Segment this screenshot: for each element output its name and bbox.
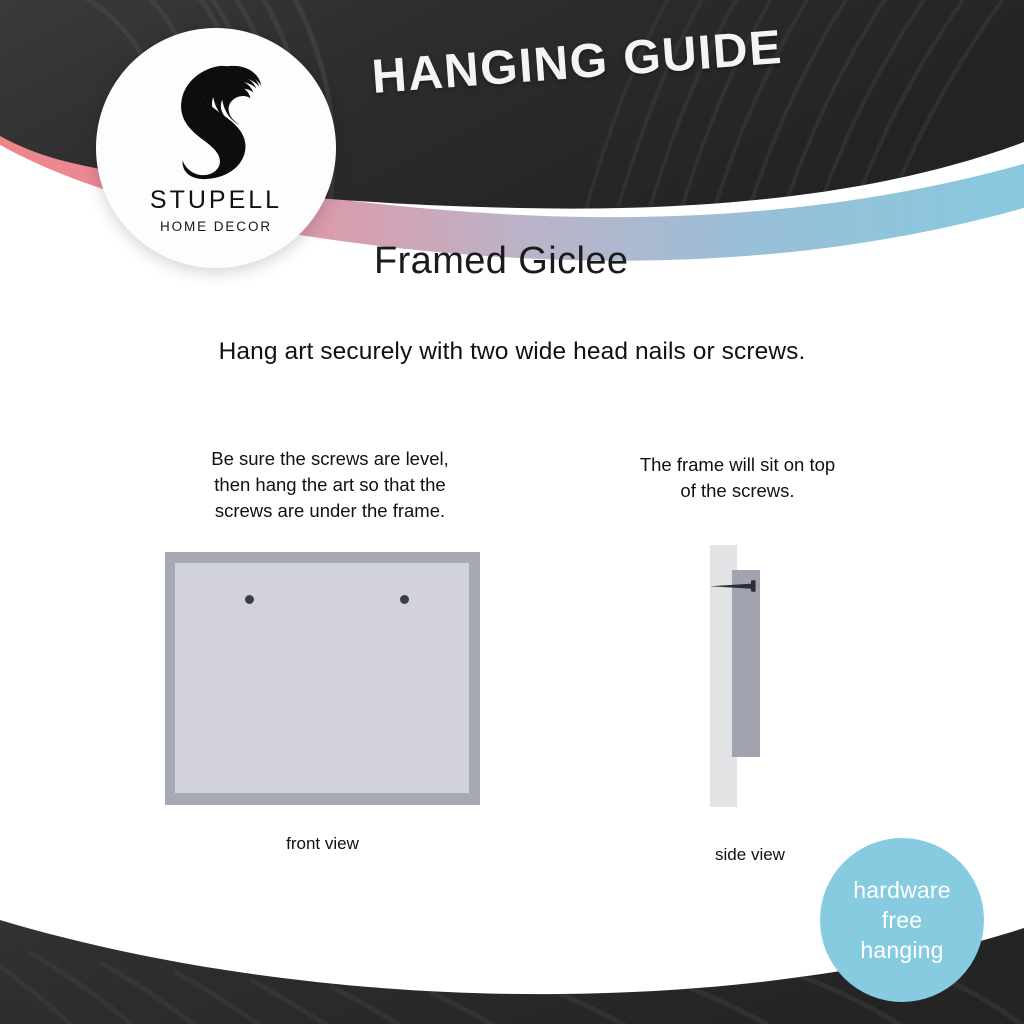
front-view-caption-line-1: Be sure the screws are level, [130, 446, 530, 472]
side-view-label: side view [650, 845, 850, 865]
brand-name: STUPELL [150, 186, 282, 215]
side-view-caption-line-1: The frame will sit on top [565, 452, 910, 478]
side-view-diagram [700, 545, 810, 807]
swan-swirl-icon [157, 60, 275, 180]
hanging-guide-page: STUPELL HOME DECOR HANGING GUIDE Framed … [0, 0, 1024, 1024]
nail-icon [708, 577, 770, 595]
screw-dot-right-icon [400, 595, 409, 604]
badge-line-1: hardware [853, 875, 951, 905]
front-view-caption: Be sure the screws are level, then hang … [130, 446, 530, 524]
badge-line-2: free [882, 905, 922, 935]
front-view-artwork-area [175, 563, 469, 793]
lead-instruction: Hang art securely with two wide head nai… [0, 338, 1024, 366]
side-view-caption: The frame will sit on top of the screws. [565, 452, 910, 504]
front-view-diagram [165, 552, 480, 805]
side-view-caption-line-2: of the screws. [565, 478, 910, 504]
hardware-free-hanging-badge: hardware free hanging [820, 838, 984, 1002]
brand-subtitle: HOME DECOR [160, 219, 272, 234]
side-view-frame [732, 570, 760, 757]
front-view-caption-line-2: then hang the art so that the [130, 472, 530, 498]
product-type-label: Framed Giclee [374, 240, 628, 283]
front-view-caption-line-3: screws are under the frame. [130, 498, 530, 524]
front-view-label: front view [165, 834, 480, 854]
badge-line-3: hanging [860, 935, 943, 965]
page-title: HANGING GUIDE [370, 20, 784, 105]
screw-dot-left-icon [245, 595, 254, 604]
brand-logo-badge: STUPELL HOME DECOR [96, 28, 336, 268]
